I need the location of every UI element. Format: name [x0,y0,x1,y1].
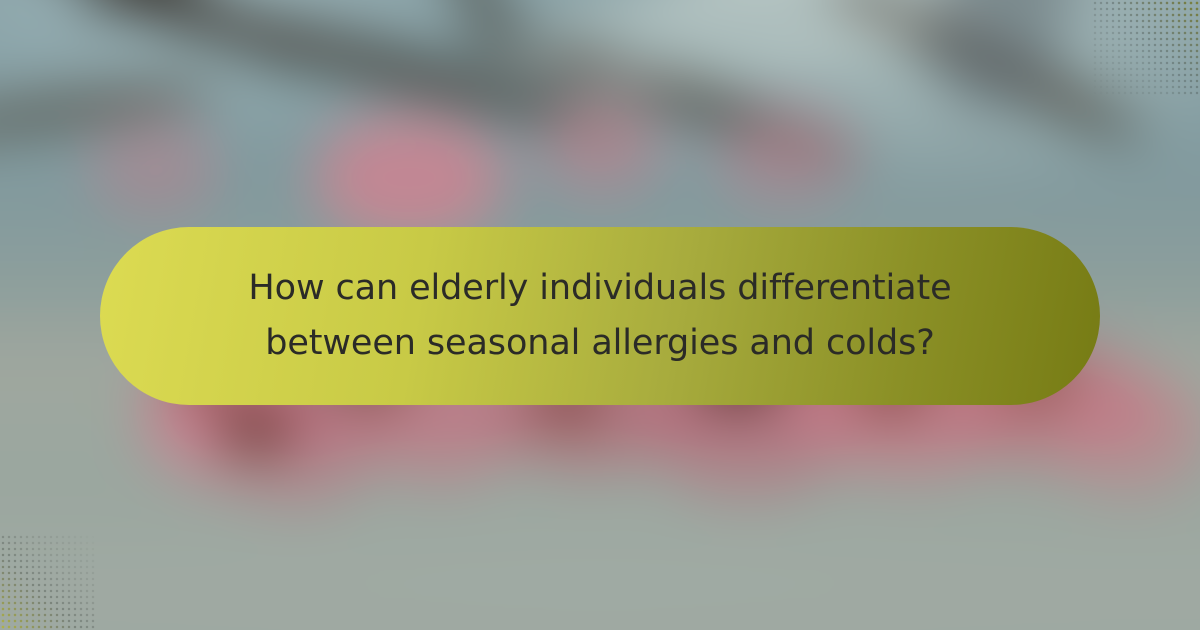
ground-wash [0,426,1200,630]
blossom-cluster [314,114,505,241]
blossom-cluster [536,98,663,193]
headline-question-text: How can elderly individuals differentiat… [230,261,970,372]
blossom-cluster [91,119,218,214]
poster-canvas: How can elderly individuals differentiat… [0,0,1200,630]
headline-pill: How can elderly individuals differentiat… [100,227,1100,405]
blossom-cluster [717,108,855,203]
